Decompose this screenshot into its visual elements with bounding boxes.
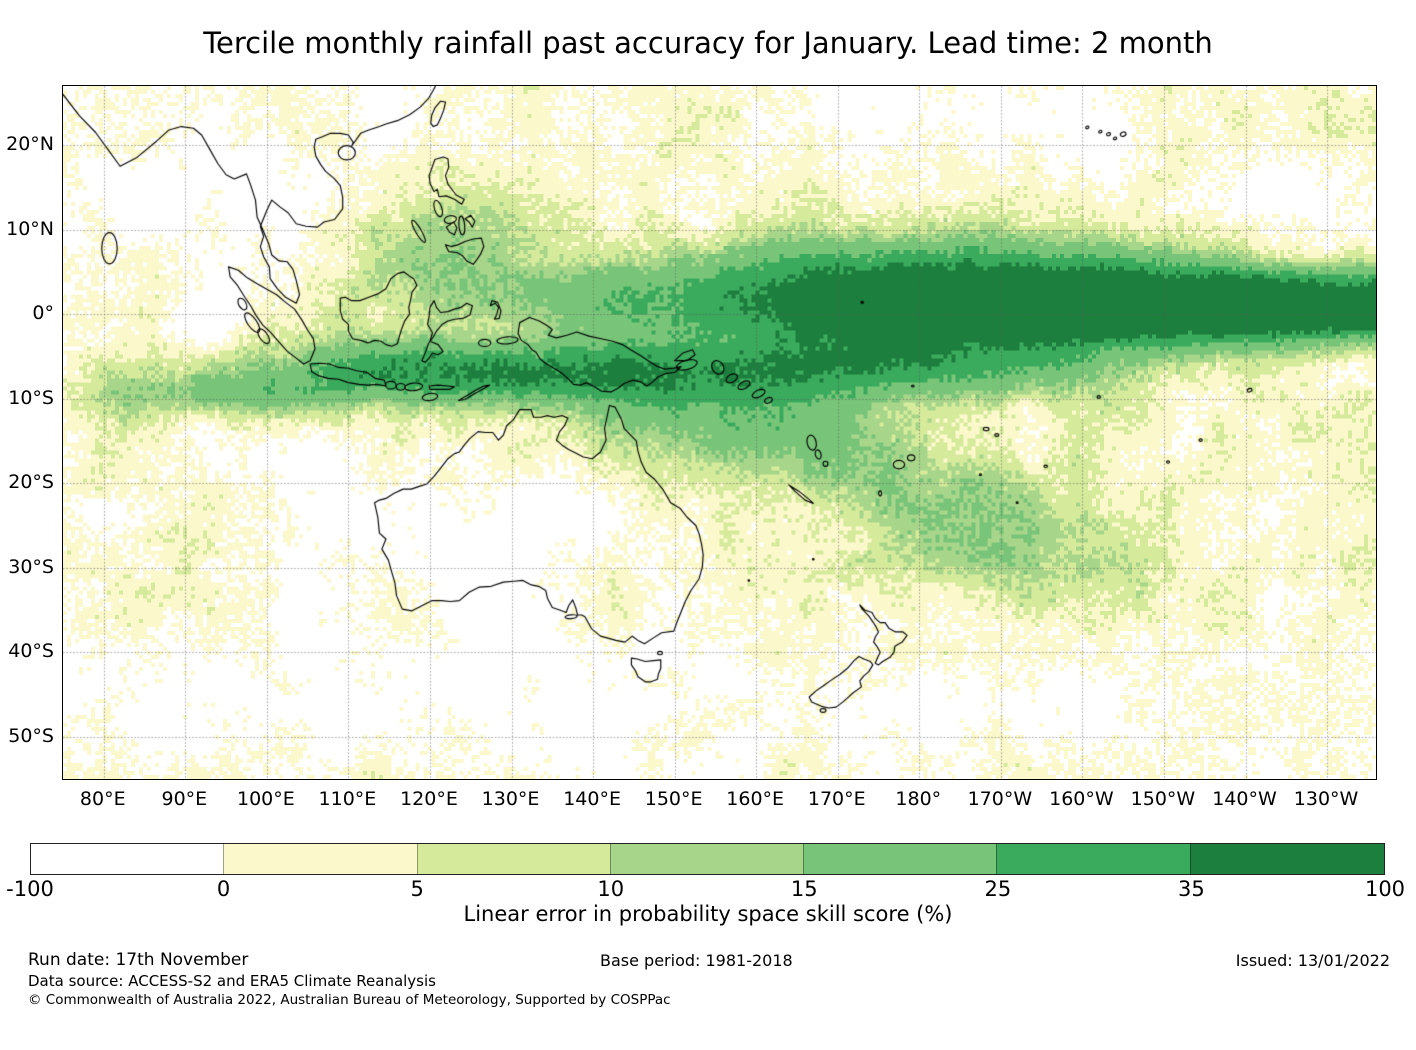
latitude-tick-1: 10°N xyxy=(6,218,54,240)
longitude-tick-3: 110°E xyxy=(319,788,377,810)
longitude-tick-1: 90°E xyxy=(161,788,207,810)
longitude-tick-0: 80°E xyxy=(80,788,126,810)
map-plot-area[interactable] xyxy=(62,85,1377,780)
longitude-tick-7: 150°E xyxy=(645,788,703,810)
longitude-tick-10: 180° xyxy=(895,788,941,810)
longitude-tick-2: 100°E xyxy=(237,788,295,810)
longitude-tick-12: 160°W xyxy=(1049,788,1114,810)
colorbar-tick-7: 100 xyxy=(1365,877,1405,901)
colorbar-segment-1 xyxy=(223,844,417,874)
colorbar-tick-2: 5 xyxy=(410,877,423,901)
colorbar-segment-0 xyxy=(31,844,224,874)
figure: Tercile monthly rainfall past accuracy f… xyxy=(0,0,1416,1050)
latitude-tick-5: 30°S xyxy=(8,556,54,578)
latitude-tick-0: 20°N xyxy=(6,133,54,155)
footer-run-date: Run date: 17th November xyxy=(28,950,248,970)
colorbar-segment-5 xyxy=(996,844,1190,874)
colorbar-tick-1: 0 xyxy=(217,877,230,901)
footer-base-period: Base period: 1981-2018 xyxy=(600,951,793,970)
latitude-tick-7: 50°S xyxy=(8,725,54,747)
longitude-tick-11: 170°W xyxy=(968,788,1033,810)
colorbar-tick-0: -100 xyxy=(6,877,54,901)
colorbar-segment-2 xyxy=(417,844,611,874)
longitude-tick-8: 160°E xyxy=(726,788,784,810)
longitude-tick-4: 120°E xyxy=(400,788,458,810)
colorbar-tick-4: 15 xyxy=(791,877,818,901)
latitude-tick-6: 40°S xyxy=(8,640,54,662)
colorbar-tick-5: 25 xyxy=(984,877,1011,901)
longitude-tick-6: 140°E xyxy=(563,788,621,810)
colorbar-segment-4 xyxy=(803,844,997,874)
colorbar-segment-3 xyxy=(610,844,804,874)
colorbar-segment-6 xyxy=(1190,844,1384,874)
colorbar-tick-6: 35 xyxy=(1178,877,1205,901)
latitude-tick-4: 20°S xyxy=(8,471,54,493)
footer-data-source: Data source: ACCESS-S2 and ERA5 Climate … xyxy=(28,972,436,990)
longitude-tick-14: 140°W xyxy=(1212,788,1277,810)
graticule-grid xyxy=(63,86,1376,779)
longitude-tick-5: 130°E xyxy=(482,788,540,810)
footer-copyright: © Commonwealth of Australia 2022, Austra… xyxy=(28,992,671,1008)
colorbar[interactable] xyxy=(30,843,1385,875)
colorbar-tick-3: 10 xyxy=(597,877,624,901)
colorbar-axis-label: Linear error in probability space skill … xyxy=(0,902,1416,926)
page-title: Tercile monthly rainfall past accuracy f… xyxy=(0,26,1416,60)
footer-issued: Issued: 13/01/2022 xyxy=(1236,951,1390,970)
latitude-tick-3: 10°S xyxy=(8,387,54,409)
latitude-tick-2: 0° xyxy=(32,302,54,324)
longitude-tick-9: 170°E xyxy=(808,788,866,810)
longitude-tick-13: 150°W xyxy=(1131,788,1196,810)
longitude-tick-15: 130°W xyxy=(1294,788,1359,810)
